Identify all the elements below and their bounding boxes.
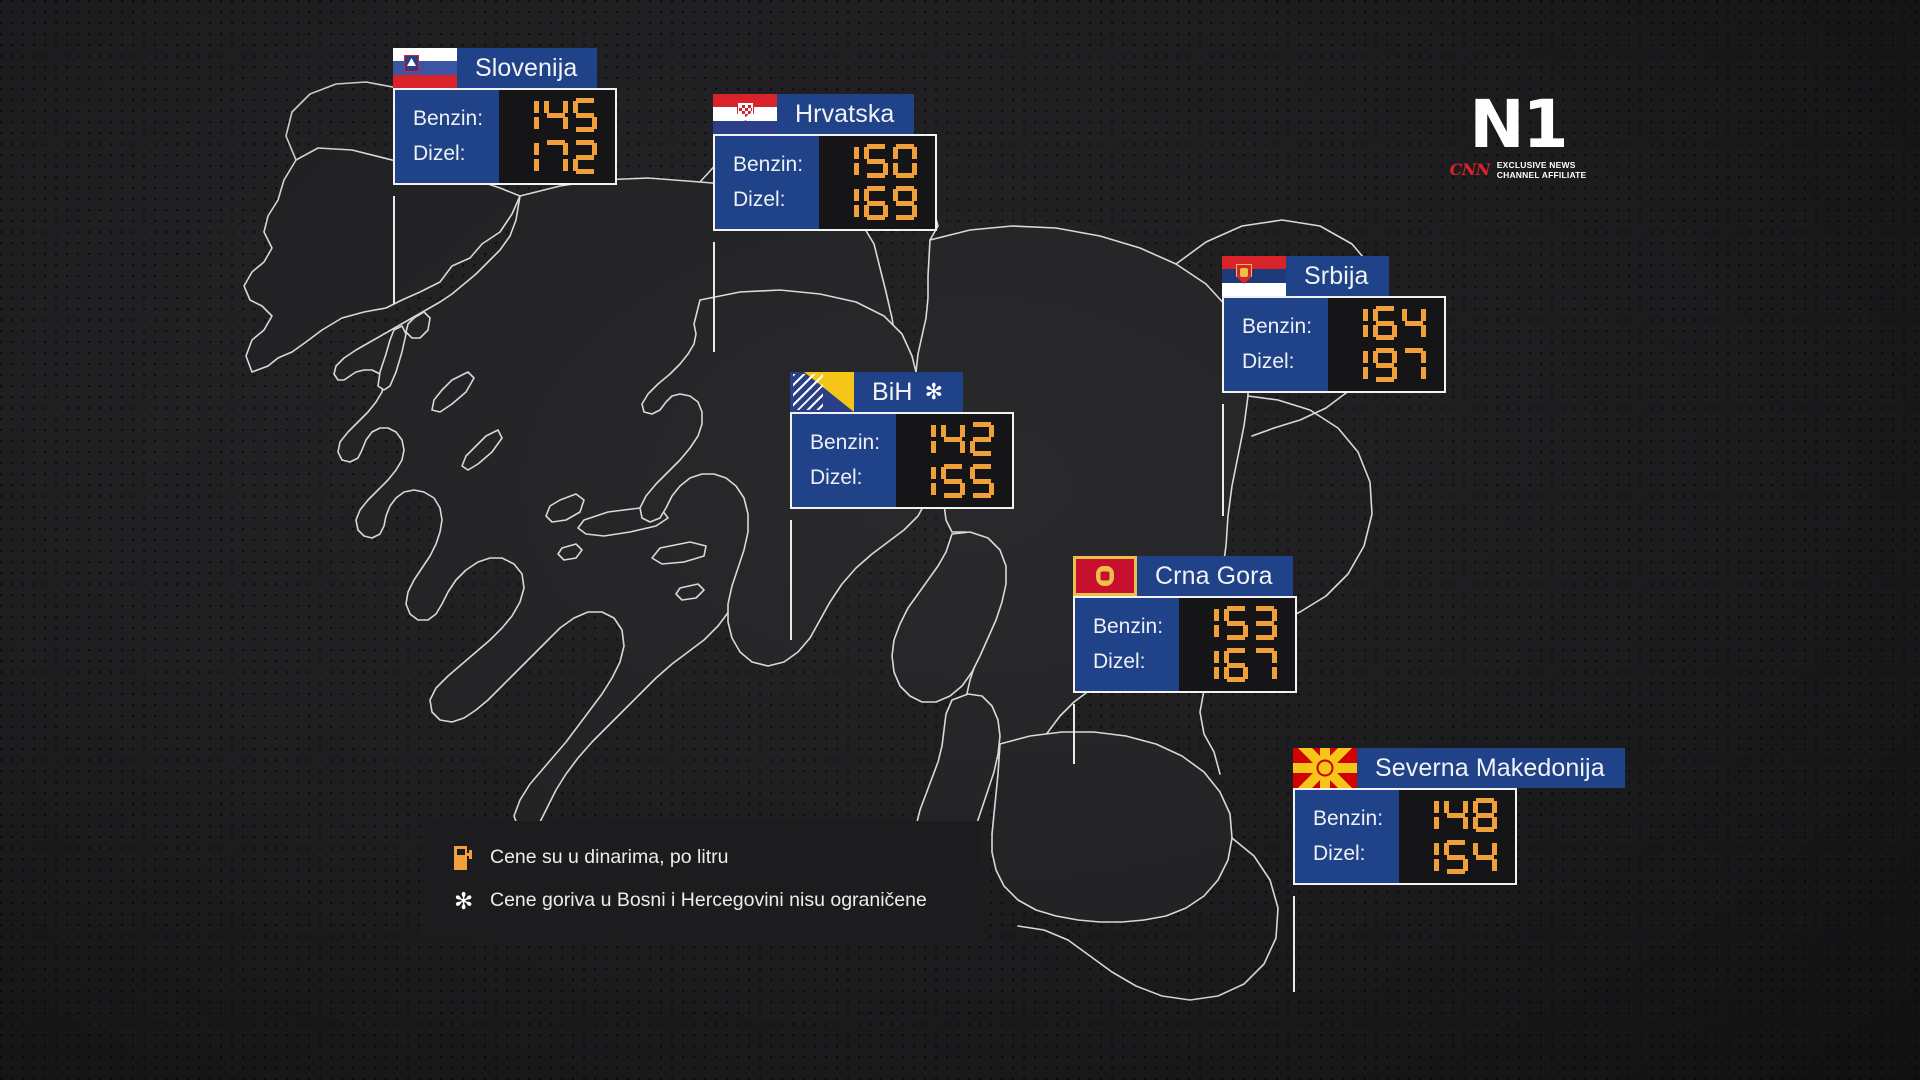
price-panel-bih: Benzin: Dizel: <box>790 412 1014 509</box>
price-values-slovenija <box>499 90 615 183</box>
header-severna-makedonija[interactable]: Severna Makedonija <box>1293 748 1625 788</box>
lcd-digit <box>1402 306 1426 340</box>
lcd-digit <box>1415 840 1439 874</box>
affiliate-line-2: CHANNEL AFFILIATE <box>1497 170 1587 180</box>
price-labels-hrvatska: Benzin: Dizel: <box>715 136 819 229</box>
lcd-digit <box>1224 648 1248 682</box>
callout-bih: BiH ✻ Benzin: Dizel: <box>790 372 1014 509</box>
price-panel-crna-gora: Benzin: Dizel: <box>1073 596 1297 693</box>
benzin-label: Benzin: <box>733 154 803 175</box>
bosnia-herzegovina-flag <box>790 372 854 412</box>
benzin-value <box>1344 306 1426 340</box>
lcd-digit <box>941 422 965 456</box>
croatia-flag <box>713 94 777 134</box>
benzin-label: Benzin: <box>413 108 483 129</box>
benzin-value <box>1195 606 1277 640</box>
lcd-digit <box>912 464 936 498</box>
dizel-label: Dizel: <box>733 189 803 210</box>
lcd-digit <box>573 140 597 174</box>
asterisk-icon: ✻ <box>925 381 944 403</box>
fuel-pump-icon <box>454 846 472 870</box>
callout-severna-makedonija: Severna Makedonija Benzin: Dizel: <box>1293 748 1625 885</box>
lcd-digit <box>515 140 539 174</box>
lcd-digit <box>1253 606 1277 640</box>
legend-text-bih-note: Cene goriva u Bosni i Hercegovini nisu o… <box>490 891 927 911</box>
lcd-digit <box>573 98 597 132</box>
country-shape-severna-makedonija <box>992 732 1232 922</box>
lcd-digit <box>1253 648 1277 682</box>
lcd-digit <box>1415 798 1439 832</box>
lcd-digit <box>544 140 568 174</box>
lcd-digit <box>912 422 936 456</box>
lcd-digit <box>941 464 965 498</box>
price-labels-srbija: Benzin: Dizel: <box>1224 298 1328 391</box>
leader-line-severna-makedonija <box>1293 896 1295 992</box>
legend-panel: Cene su u dinarima, po litru ✻ Cene gori… <box>420 821 982 937</box>
country-name-bih: BiH ✻ <box>854 372 963 412</box>
price-values-bih <box>896 414 1012 507</box>
price-panel-slovenija: Benzin: Dizel: <box>393 88 617 185</box>
leader-line-slovenija <box>393 196 395 304</box>
dizel-label: Dizel: <box>413 143 483 164</box>
leader-line-crna-gora <box>1073 704 1075 764</box>
leader-line-bih <box>790 520 792 640</box>
dizel-value <box>1415 840 1497 874</box>
callout-crna-gora: Crna Gora Benzin: Dizel: <box>1073 556 1297 693</box>
slovenia-flag <box>393 48 457 88</box>
cnn-affiliate-block: CNN EXCLUSIVE NEWS CHANNEL AFFILIATE <box>1448 160 1588 181</box>
lcd-digit <box>544 98 568 132</box>
lcd-digit <box>1373 348 1397 382</box>
price-labels-severna-makedonija: Benzin: Dizel: <box>1295 790 1399 883</box>
price-labels-slovenija: Benzin: Dizel: <box>395 90 499 183</box>
lcd-digit <box>893 144 917 178</box>
montenegro-flag <box>1073 556 1137 596</box>
lcd-digit <box>1444 840 1468 874</box>
dizel-value <box>1195 648 1277 682</box>
price-panel-srbija: Benzin: Dizel: <box>1222 296 1446 393</box>
header-hrvatska[interactable]: Hrvatska <box>713 94 914 134</box>
legend-item-currency: Cene su u dinarima, po litru <box>454 846 982 870</box>
n1-wordmark: N1 <box>1448 95 1588 156</box>
country-name-hrvatska: Hrvatska <box>777 94 914 134</box>
callout-srbija: Srbija Benzin: Dizel: <box>1222 256 1446 393</box>
price-panel-hrvatska: Benzin: Dizel: <box>713 134 937 231</box>
dizel-value <box>835 186 917 220</box>
dizel-value <box>515 140 597 174</box>
price-values-severna-makedonija <box>1399 790 1515 883</box>
lcd-digit <box>864 144 888 178</box>
lcd-digit <box>1344 348 1368 382</box>
benzin-label: Benzin: <box>1242 316 1312 337</box>
benzin-value <box>835 144 917 178</box>
country-name-srbija: Srbija <box>1286 256 1389 296</box>
lcd-digit <box>515 98 539 132</box>
n1-logo: N1 CNN EXCLUSIVE NEWS CHANNEL AFFILIATE <box>1448 95 1588 181</box>
price-values-hrvatska <box>819 136 935 229</box>
lcd-digit <box>1473 798 1497 832</box>
lcd-digit <box>1402 348 1426 382</box>
lcd-digit <box>1195 606 1219 640</box>
lcd-digit <box>970 422 994 456</box>
leader-line-hrvatska <box>713 242 715 352</box>
country-name-slovenija: Slovenija <box>457 48 597 88</box>
lcd-digit <box>1373 306 1397 340</box>
header-crna-gora[interactable]: Crna Gora <box>1073 556 1293 596</box>
lcd-digit <box>864 186 888 220</box>
price-labels-crna-gora: Benzin: Dizel: <box>1075 598 1179 691</box>
lcd-digit <box>835 144 859 178</box>
cnn-logo: CNN <box>1450 162 1490 178</box>
header-bih[interactable]: BiH ✻ <box>790 372 963 412</box>
serbia-flag <box>1222 256 1286 296</box>
lcd-digit <box>1224 606 1248 640</box>
callout-slovenija: Slovenija Benzin: Dizel: <box>393 48 617 185</box>
benzin-value <box>515 98 597 132</box>
leader-line-srbija <box>1222 404 1224 516</box>
lcd-digit <box>1195 648 1219 682</box>
lcd-digit <box>893 186 917 220</box>
header-srbija[interactable]: Srbija <box>1222 256 1389 296</box>
lcd-digit <box>835 186 859 220</box>
country-name-crna-gora: Crna Gora <box>1137 556 1293 596</box>
legend-text-currency: Cene su u dinarima, po litru <box>490 848 728 868</box>
lcd-digit <box>1473 840 1497 874</box>
dizel-label: Dizel: <box>810 467 880 488</box>
affiliate-line-1: EXCLUSIVE NEWS <box>1497 160 1576 170</box>
price-labels-bih: Benzin: Dizel: <box>792 414 896 507</box>
callout-hrvatska: Hrvatska Benzin: Dizel: <box>713 94 937 231</box>
benzin-value <box>912 422 994 456</box>
lcd-digit <box>970 464 994 498</box>
header-slovenija[interactable]: Slovenija <box>393 48 597 88</box>
benzin-value <box>1415 798 1497 832</box>
country-name-text: BiH <box>872 380 913 405</box>
benzin-label: Benzin: <box>1313 808 1383 829</box>
benzin-label: Benzin: <box>1093 616 1163 637</box>
lcd-digit <box>1344 306 1368 340</box>
legend-item-bih-note: ✻ Cene goriva u Bosni i Hercegovini nisu… <box>454 890 982 913</box>
price-values-srbija <box>1328 298 1444 391</box>
dizel-label: Dizel: <box>1093 651 1163 672</box>
price-values-crna-gora <box>1179 598 1295 691</box>
price-panel-severna-makedonija: Benzin: Dizel: <box>1293 788 1517 885</box>
dizel-value <box>912 464 994 498</box>
asterisk-icon: ✻ <box>454 890 472 913</box>
dizel-label: Dizel: <box>1313 843 1383 864</box>
dizel-label: Dizel: <box>1242 351 1312 372</box>
affiliate-text: EXCLUSIVE NEWS CHANNEL AFFILIATE <box>1497 160 1587 181</box>
country-name-severna-makedonija: Severna Makedonija <box>1357 748 1625 788</box>
lcd-digit <box>1444 798 1468 832</box>
benzin-label: Benzin: <box>810 432 880 453</box>
north-macedonia-flag <box>1293 748 1357 788</box>
dizel-value <box>1344 348 1426 382</box>
